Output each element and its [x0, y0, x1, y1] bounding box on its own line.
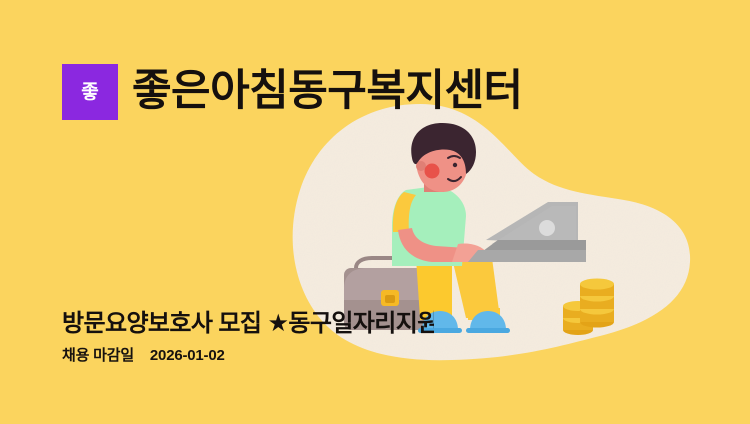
- person-head: [411, 123, 476, 192]
- job-posting-poster: 좋 좋은아침동구복지센터 방문요양보호사 모집 ★동구일자리지원센 채용 마감일…: [0, 0, 750, 424]
- page-title: 좋은아침동구복지센터: [132, 69, 523, 114]
- brand-badge: 좋: [62, 64, 118, 120]
- job-headline: 방문요양보호사 모집 ★동구일자리지원센: [62, 303, 434, 338]
- coin-stack-icon: [563, 279, 614, 336]
- application-deadline: 채용 마감일 2026-01-02: [62, 344, 225, 365]
- brand-row: 좋 좋은아침동구복지센터: [62, 64, 523, 120]
- deadline-value: 2026-01-02: [150, 347, 225, 364]
- laptop-icon: [468, 202, 586, 262]
- deadline-label: 채용 마감일: [62, 347, 134, 364]
